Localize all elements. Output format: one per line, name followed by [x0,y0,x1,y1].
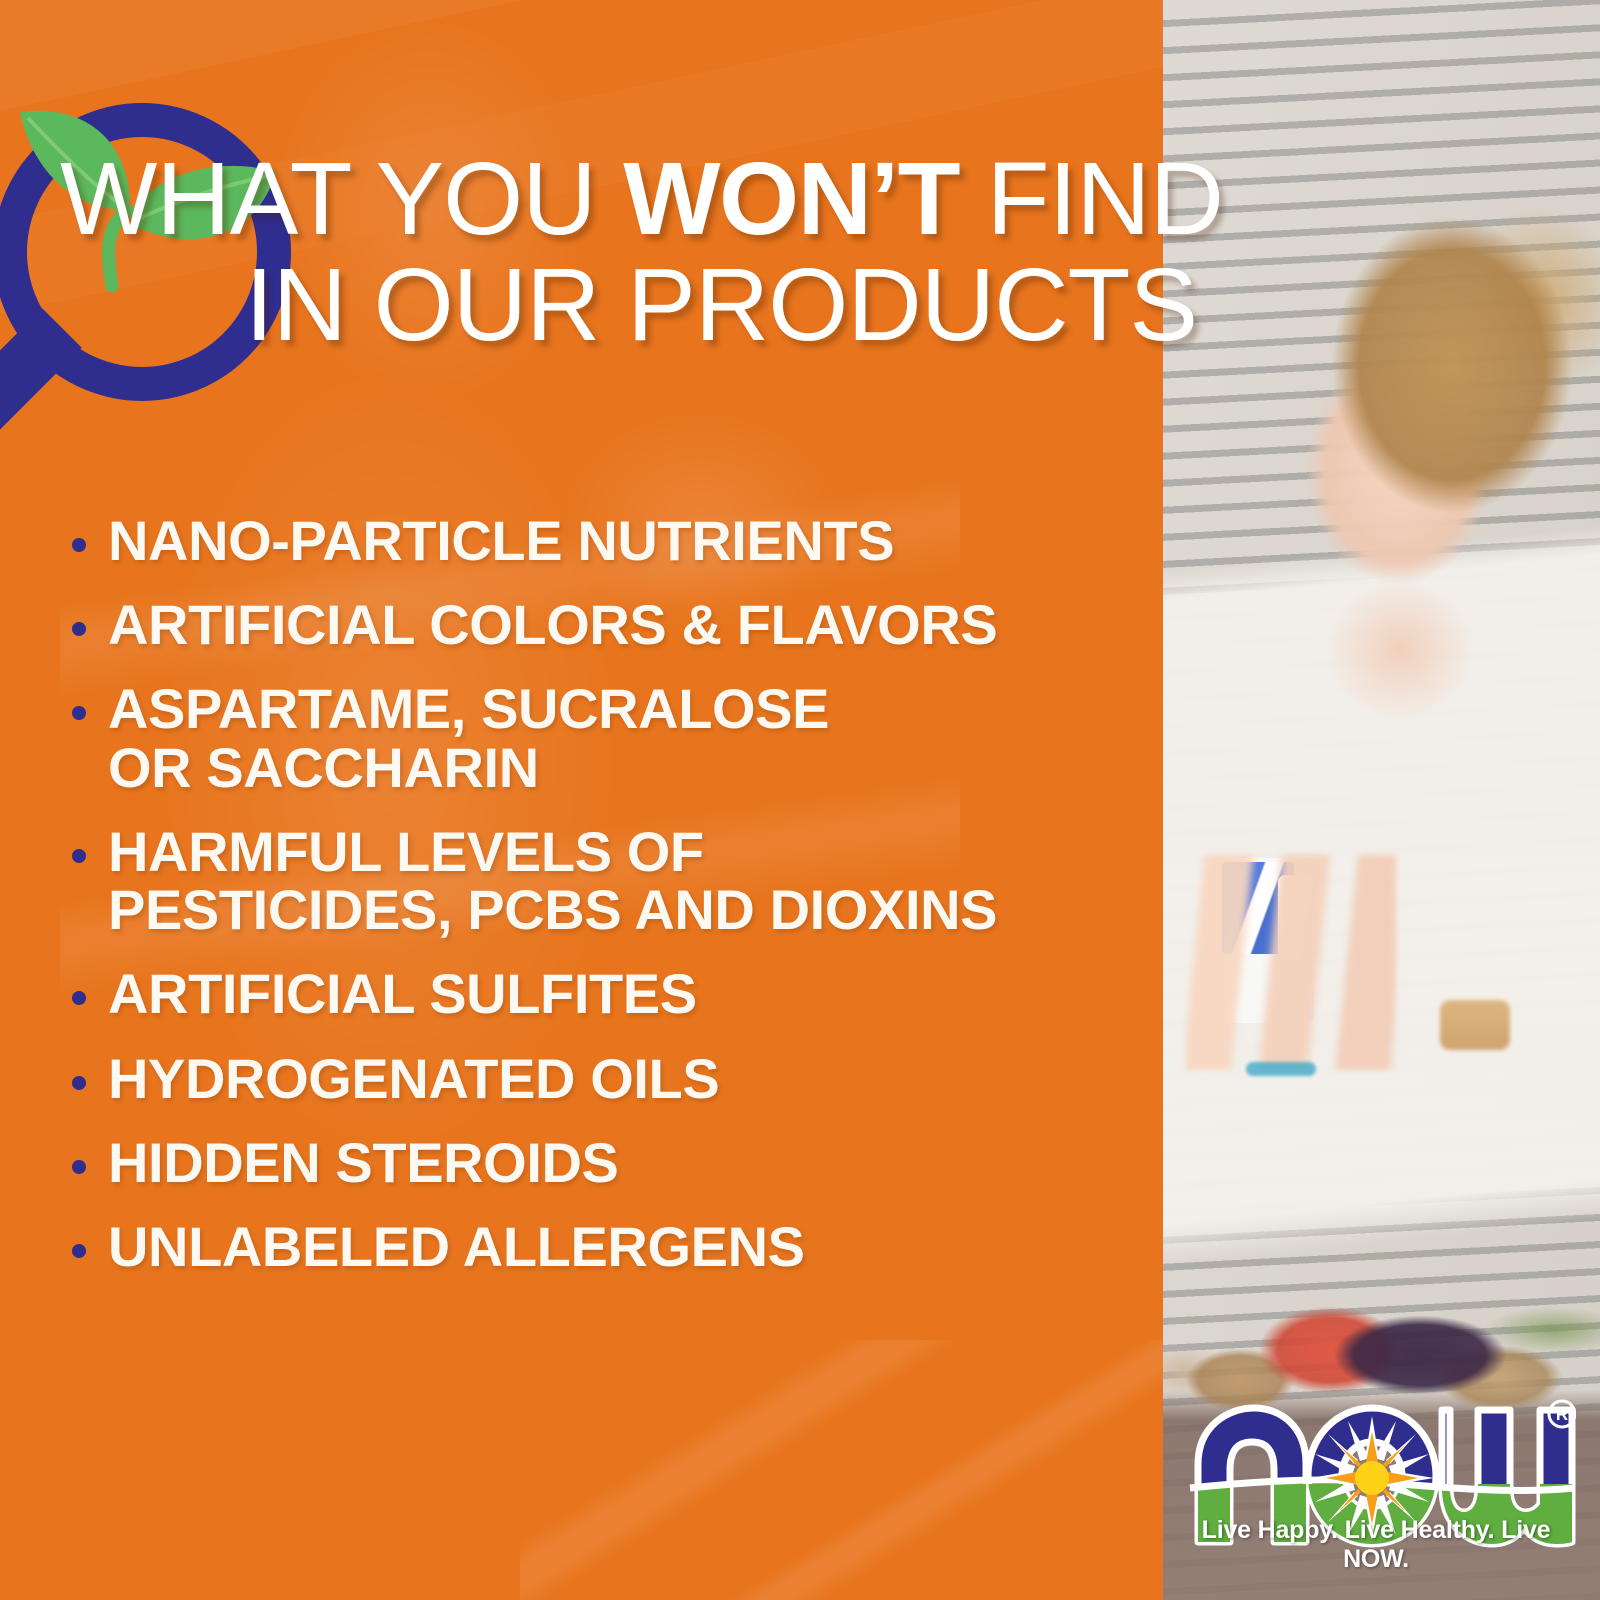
bullet-dot-icon [72,991,86,1005]
headline-text-a: WHAT YOU [60,141,623,256]
list-item-label: HYDROGENATED OILS [108,1050,719,1108]
list-item: ARTIFICIAL COLORS & FLAVORS [72,596,1152,654]
list-item-label: ARTIFICIAL SULFITES [108,965,697,1023]
brand-tagline: Live Happy. Live Healthy. Live NOW. [1176,1516,1576,1574]
list-item-label: ASPARTAME, SUCRALOSE OR SACCHARIN [108,680,829,796]
bullet-dot-icon [72,1244,86,1258]
list-item: NANO-PARTICLE NUTRIENTS [72,512,1152,570]
wrist-band [1246,1062,1316,1076]
exclusion-list: NANO-PARTICLE NUTRIENTS ARTIFICIAL COLOR… [72,512,1152,1302]
page-title: WHAT YOU WON’T FIND IN OUR PRODUCTS [60,150,1540,354]
list-item: ARTIFICIAL SULFITES [72,965,1152,1023]
bullet-dot-icon [72,1160,86,1174]
list-item: HYDROGENATED OILS [72,1050,1152,1108]
svg-text:R: R [1556,1405,1568,1424]
list-item-label: NANO-PARTICLE NUTRIENTS [108,512,894,570]
headline-text-b: FIND [959,141,1223,256]
headline-emphasis: WON’T [623,141,959,256]
list-item: ASPARTAME, SUCRALOSE OR SACCHARIN [72,680,1152,796]
wrist-watch [1440,1000,1510,1050]
bullet-dot-icon [72,538,86,552]
ghost-texture-lower [520,1340,1163,1600]
headline-line-1: WHAT YOU WON’T FIND [60,150,1540,248]
list-item: HARMFUL LEVELS OF PESTICIDES, PCBS AND D… [72,823,1152,939]
poster-canvas: WHAT YOU WON’T FIND IN OUR PRODUCTS NANO… [0,0,1600,1600]
list-item-label: UNLABELED ALLERGENS [108,1218,805,1276]
bullet-dot-icon [72,622,86,636]
bullet-dot-icon [72,1076,86,1090]
bullet-dot-icon [72,849,86,863]
list-item: UNLABELED ALLERGENS [72,1218,1152,1276]
list-item-label: ARTIFICIAL COLORS & FLAVORS [108,596,997,654]
hands [1186,855,1396,1070]
bullet-dot-icon [72,706,86,720]
list-item: HIDDEN STEROIDS [72,1134,1152,1192]
headline-line-2: IN OUR PRODUCTS [60,256,1540,354]
list-item-label: HARMFUL LEVELS OF PESTICIDES, PCBS AND D… [108,823,997,939]
list-item-label: HIDDEN STEROIDS [108,1134,619,1192]
